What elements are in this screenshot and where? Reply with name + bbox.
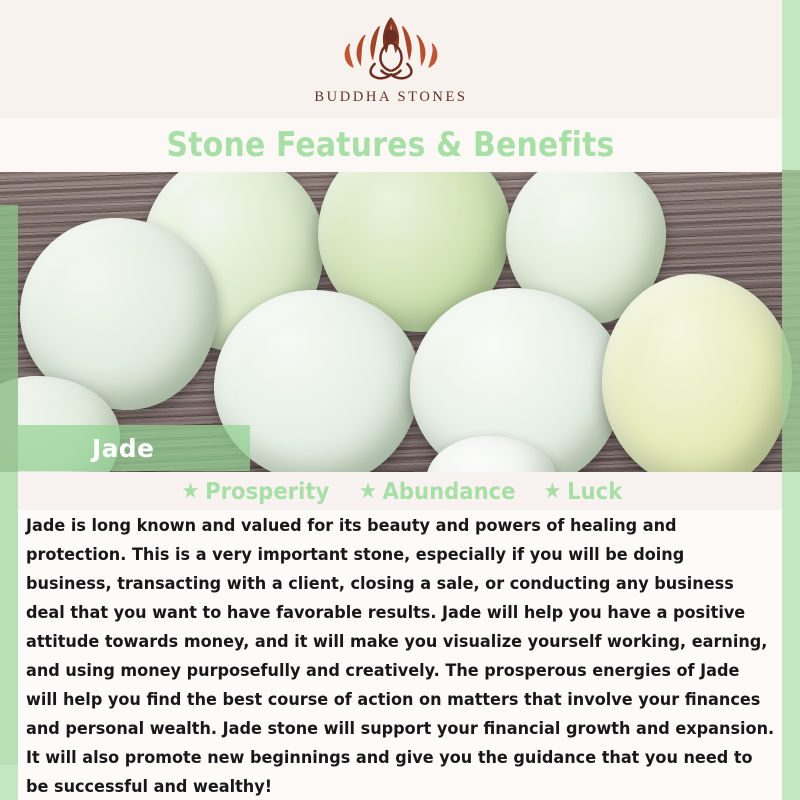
benefit-item: ★ Prosperity: [181, 479, 329, 505]
description-block: Jade is long known and valued for its be…: [18, 510, 782, 800]
benefit-label: Abundance: [383, 479, 516, 505]
star-icon: ★: [181, 481, 199, 503]
jade-stone: [602, 274, 792, 472]
hero-right-green-accent: [782, 170, 800, 472]
page-title: Stone Features & Benefits: [167, 125, 615, 165]
stone-name-bar: Jade: [18, 425, 250, 471]
poster-root: BUDDHA STONES Stone Features & Benefits …: [0, 0, 800, 800]
lotus-meditation-icon: [332, 14, 450, 86]
brand-header: BUDDHA STONES: [0, 0, 782, 120]
benefit-label: Prosperity: [205, 479, 329, 505]
benefit-item: ★ Abundance: [359, 479, 516, 505]
star-icon: ★: [543, 481, 561, 503]
benefits-row: ★ Prosperity ★ Abundance ★ Luck: [18, 472, 782, 510]
star-icon: ★: [359, 481, 377, 503]
benefit-item: ★ Luck: [543, 479, 622, 505]
stone-name-label: Jade: [92, 434, 154, 463]
hero-left-green-accent: [0, 205, 18, 472]
description-text: Jade is long known and valued for its be…: [26, 512, 774, 800]
brand-name: BUDDHA STONES: [314, 89, 467, 106]
title-banner: Stone Features & Benefits: [0, 118, 782, 172]
benefit-label: Luck: [567, 479, 622, 505]
brand-logo: BUDDHA STONES: [314, 14, 467, 106]
content-panel: ★ Prosperity ★ Abundance ★ Luck Jade is …: [18, 472, 782, 765]
